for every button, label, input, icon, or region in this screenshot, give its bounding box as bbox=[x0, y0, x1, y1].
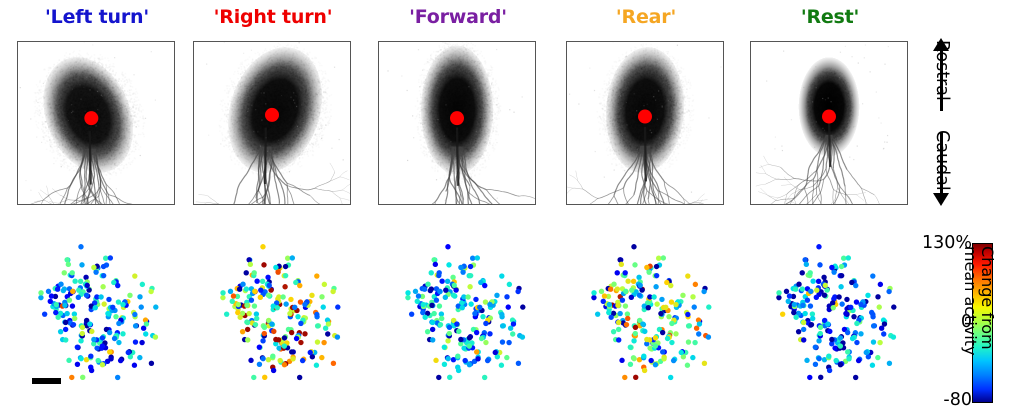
scatter-panel-forward bbox=[381, 228, 551, 388]
scatter-plot bbox=[14, 228, 184, 388]
morphology-panel-left-turn bbox=[17, 41, 175, 205]
scatter-plot bbox=[752, 228, 922, 388]
morphology-image bbox=[751, 42, 907, 204]
column-title-rest: 'Rest' bbox=[740, 6, 920, 28]
morphology-image bbox=[567, 42, 723, 204]
scatter-panel-left-turn bbox=[14, 228, 184, 388]
morphology-image bbox=[18, 42, 174, 204]
colorbar-axis-label: Change from mean activity bbox=[962, 246, 996, 355]
column-title-forward: 'Forward' bbox=[368, 6, 548, 28]
scatter-panel-rear bbox=[567, 228, 737, 388]
colorbar-axis-label-line2: mean activity bbox=[961, 246, 980, 355]
caudal-arrowhead-icon bbox=[933, 193, 949, 206]
colorbar-axis-label-line1: Change from bbox=[978, 246, 997, 350]
morphology-panel-rear bbox=[566, 41, 724, 205]
scatter-panel-rest bbox=[752, 228, 922, 388]
scatter-plot bbox=[196, 228, 366, 388]
morphology-panel-rest bbox=[750, 41, 908, 205]
column-title-left-turn: 'Left turn' bbox=[7, 6, 187, 28]
caudal-label: Caudal bbox=[932, 130, 952, 191]
morphology-panel-forward bbox=[378, 41, 536, 205]
column-title-rear: 'Rear' bbox=[556, 6, 736, 28]
rostral-label: Rostral bbox=[932, 40, 952, 101]
column-title-right-turn: 'Right turn' bbox=[183, 6, 363, 28]
morphology-image bbox=[379, 42, 535, 204]
orientation-guide: Rostral Caudal bbox=[926, 38, 1016, 206]
scatter-panel-right-turn bbox=[196, 228, 366, 388]
scatter-plot bbox=[381, 228, 551, 388]
colorbar-tick-min: -80 bbox=[912, 390, 972, 410]
morphology-image bbox=[194, 42, 350, 204]
scatter-plot bbox=[567, 228, 737, 388]
colorbar-legend: 130% 0 -80 Change from mean activity bbox=[920, 236, 1020, 411]
scale-bar bbox=[32, 378, 61, 384]
morphology-panel-right-turn bbox=[193, 41, 351, 205]
